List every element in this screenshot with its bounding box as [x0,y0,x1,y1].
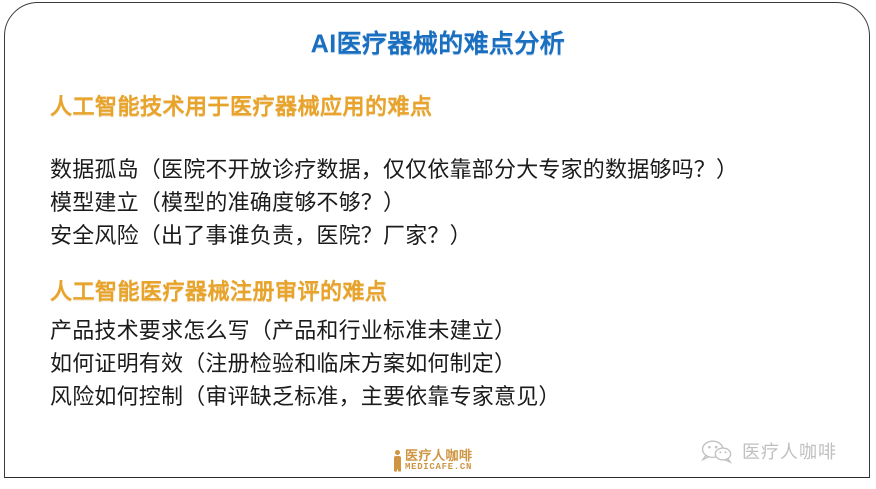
center-watermark-en-label: MEDICAFE.CN [405,463,473,472]
wechat-icon [700,438,734,464]
center-watermark-text: 医疗人咖啡 MEDICAFE.CN [405,449,473,472]
corner-watermark-label: 医疗人咖啡 [742,438,837,464]
page-title: AI医疗器械的难点分析 [0,24,876,60]
body-line: 安全风险（出了事谁负责，医院？厂家？） [50,218,472,250]
person-figure-icon [393,450,402,472]
section-heading-registration-review-difficulties: 人工智能医疗器械注册审评的难点 [50,274,388,306]
corner-watermark: 医疗人咖啡 [700,438,837,464]
body-line: 如何证明有效（注册检验和临床方案如何制定） [50,346,516,378]
center-watermark: 医疗人咖啡 MEDICAFE.CN [393,449,473,472]
slide-content: AI医疗器械的难点分析 人工智能技术用于医疗器械应用的难点 数据孤岛（医院不开放… [0,0,876,489]
slide-root: AI医疗器械的难点分析 人工智能技术用于医疗器械应用的难点 数据孤岛（医院不开放… [0,0,876,489]
center-watermark-cn-label: 医疗人咖啡 [405,449,473,462]
body-line: 数据孤岛（医院不开放诊疗数据，仅仅依靠部分大专家的数据够吗？） [50,152,738,184]
body-line: 模型建立（模型的准确度够不够？） [50,185,405,217]
body-line: 风险如何控制（审评缺乏标准，主要依靠专家意见） [50,379,561,411]
section-heading-application-difficulties: 人工智能技术用于医疗器械应用的难点 [50,89,433,121]
body-line: 产品技术要求怎么写（产品和行业标准未建立） [50,313,516,345]
